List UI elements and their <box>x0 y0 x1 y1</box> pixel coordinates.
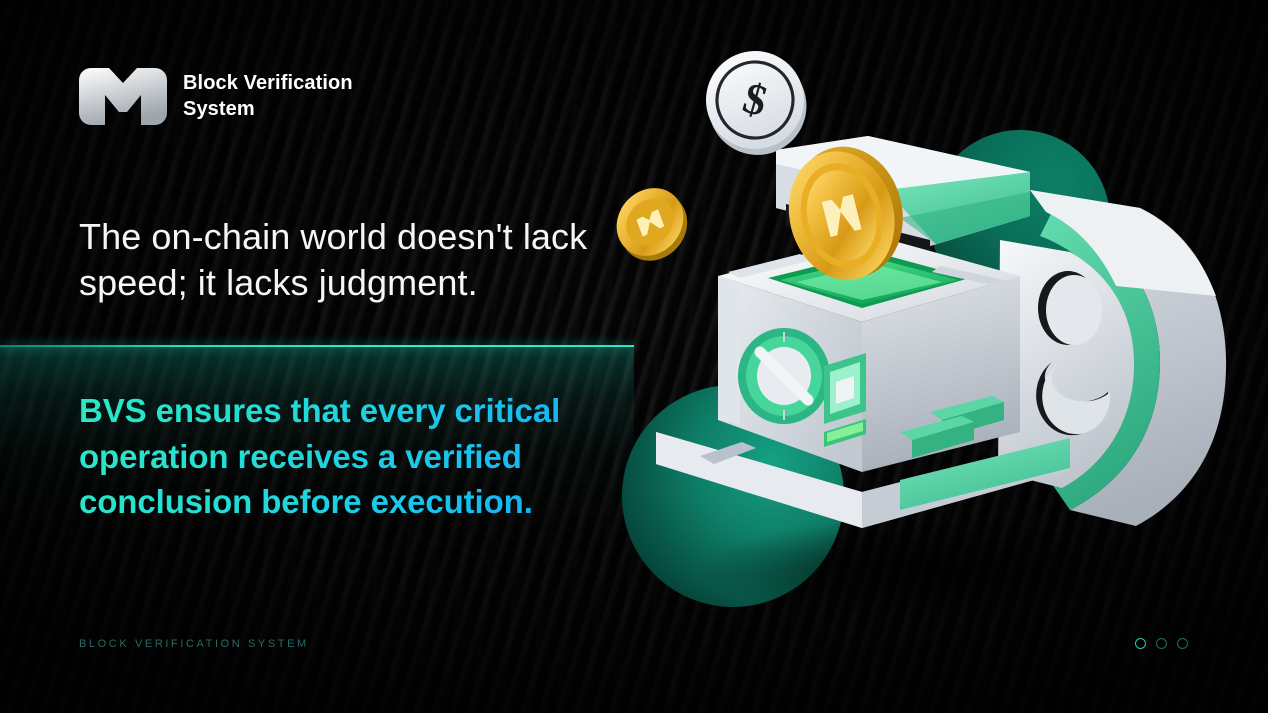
brand-lockup: Block Verification System <box>79 68 353 125</box>
brand-name: Block Verification System <box>183 71 353 122</box>
pagination-dot-2[interactable] <box>1156 638 1167 649</box>
presentation-slide: $ Block Verification System The on-chain… <box>0 0 1268 713</box>
pagination-dot-1[interactable] <box>1135 638 1146 649</box>
accent-divider-line <box>0 345 634 347</box>
headline: The on-chain world doesn't lack speed; i… <box>79 214 679 306</box>
vault-svg: $ <box>600 40 1268 660</box>
footer-label: BLOCK VERIFICATION SYSTEM <box>79 638 309 650</box>
pagination-dot-3[interactable] <box>1177 638 1188 649</box>
pagination-dots[interactable] <box>1135 638 1188 649</box>
bvs-m-logo-icon <box>79 68 167 125</box>
vault-illustration: $ <box>600 40 1268 660</box>
subheadline: BVS ensures that every critical operatio… <box>79 388 664 525</box>
